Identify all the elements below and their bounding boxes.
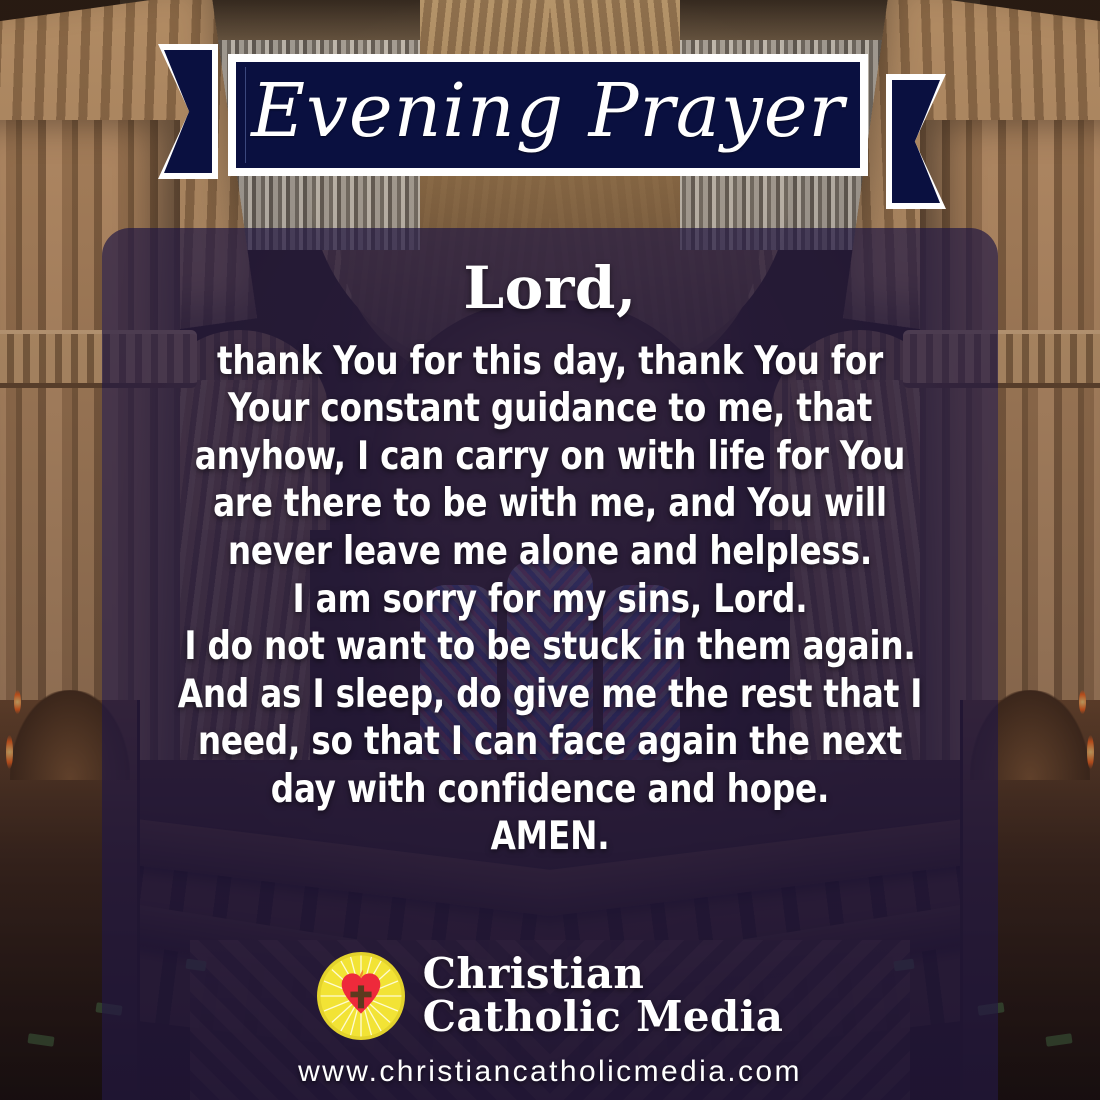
prayer-line: are there to be with me, and You will xyxy=(133,480,966,528)
prayer-block: Lord, thank You for this day, thank You … xyxy=(102,255,998,861)
brand-line-2: Catholic Media xyxy=(423,996,784,1039)
prayer-line: never leave me alone and helpless. xyxy=(133,528,966,576)
prayer-salutation: Lord, xyxy=(102,255,998,322)
prayer-line: AMEN. xyxy=(133,813,966,861)
brand-name: Christian Catholic Media xyxy=(423,953,784,1039)
prayer-line: day with confidence and hope. xyxy=(133,766,966,814)
prayer-body: thank You for this day, thank You for Yo… xyxy=(133,338,966,861)
brand-logo: Christian Catholic Media xyxy=(0,952,1100,1040)
prayer-line: need, so that I can face again the next xyxy=(133,718,966,766)
title-ribbon: Evening Prayer xyxy=(228,54,868,176)
sacred-heart-sunburst-icon xyxy=(317,952,405,1040)
prayer-poster: Evening Prayer Lord, thank You for this … xyxy=(0,0,1100,1100)
poster-title: Evening Prayer xyxy=(251,74,845,148)
website-url[interactable]: www.christiancatholicmedia.com xyxy=(0,1055,1100,1089)
prayer-line: Your constant guidance to me, that xyxy=(133,385,966,433)
prayer-line: thank You for this day, thank You for xyxy=(133,338,966,386)
prayer-line: I am sorry for my sins, Lord. xyxy=(133,576,966,624)
prayer-line: And as I sleep, do give me the rest that… xyxy=(133,671,966,719)
prayer-line: anyhow, I can carry on with life for You xyxy=(133,433,966,481)
prayer-line: I do not want to be stuck in them again. xyxy=(133,623,966,671)
brand-line-1: Christian xyxy=(423,949,645,998)
